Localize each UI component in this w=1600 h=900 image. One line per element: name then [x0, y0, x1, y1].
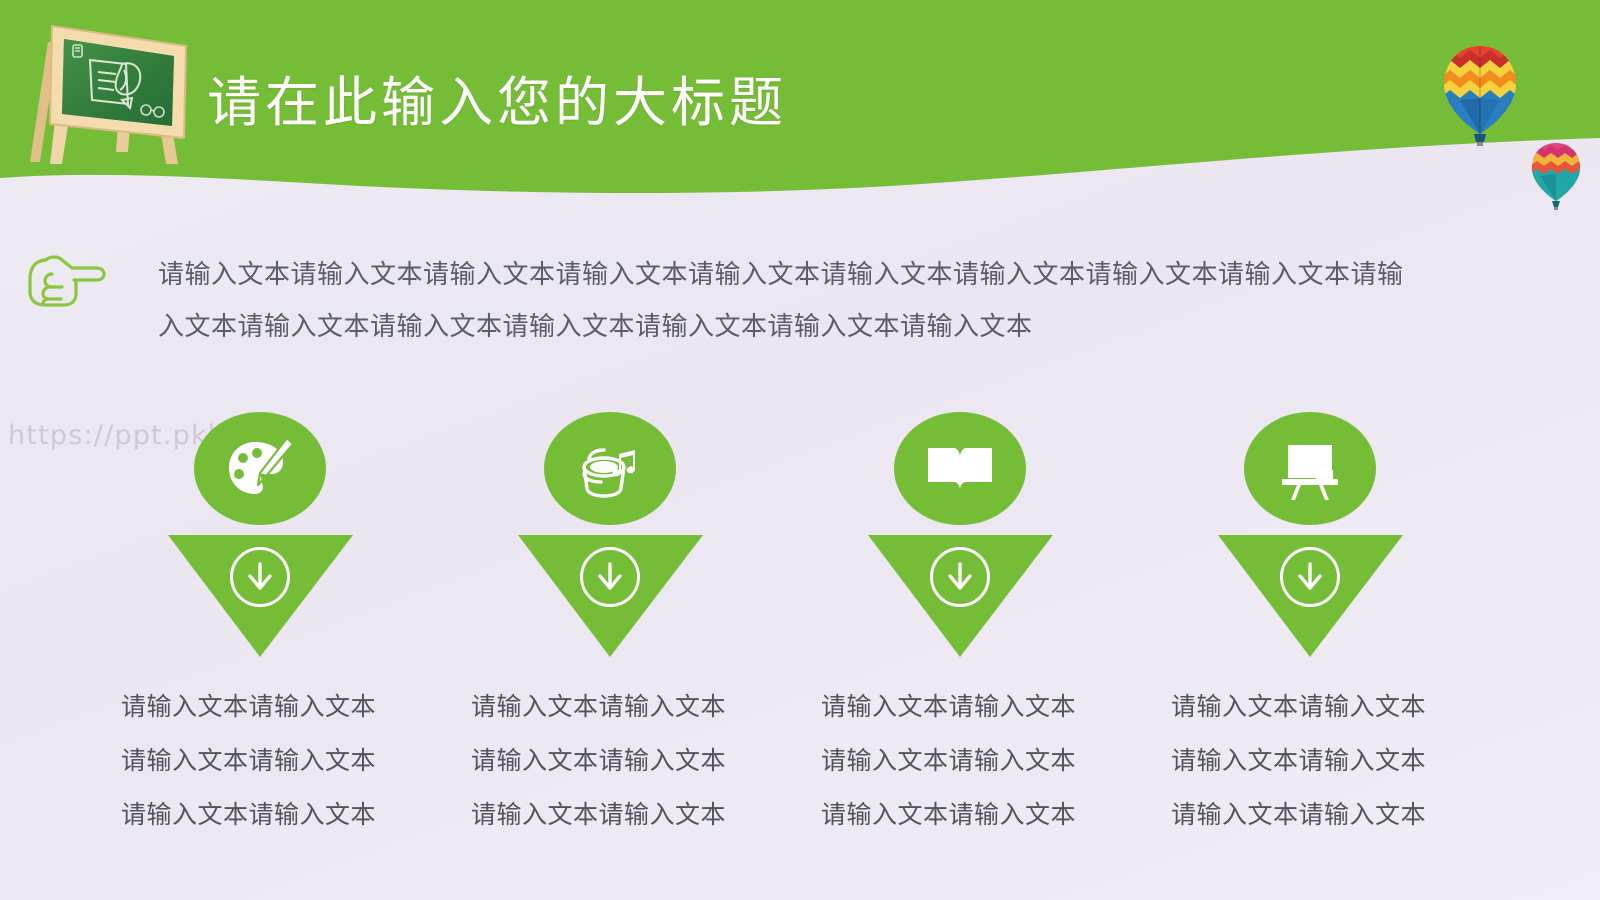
list-item: 请输入文本请输入文本	[471, 788, 771, 842]
list-item: 请输入文本请输入文本	[121, 734, 421, 788]
feature-column-4-text: 请输入文本请输入文本 请输入文本请输入文本 请输入文本请输入文本	[1171, 680, 1471, 842]
circled-down-arrow-icon	[930, 547, 990, 607]
whiteboard-easel-icon[interactable]	[1244, 412, 1376, 525]
list-item: 请输入文本请输入文本	[471, 734, 771, 788]
page-title: 请在此输入您的大标题	[207, 58, 787, 137]
chalkboard-easel-icon	[18, 12, 208, 167]
feature-columns: 请输入文本请输入文本 请输入文本请输入文本 请输入文本请输入文本	[85, 412, 1515, 842]
feature-column-2-text: 请输入文本请输入文本 请输入文本请输入文本 请输入文本请输入文本	[471, 680, 771, 842]
hot-air-balloon-icon	[1530, 140, 1582, 216]
feature-column-3-text: 请输入文本请输入文本 请输入文本请输入文本 请输入文本请输入文本	[821, 680, 1121, 842]
list-item: 请输入文本请输入文本	[1171, 680, 1471, 734]
feature-column-3[interactable]: 请输入文本请输入文本 请输入文本请输入文本 请输入文本请输入文本	[785, 412, 1135, 842]
list-item: 请输入文本请输入文本	[821, 680, 1121, 734]
list-item: 请输入文本请输入文本	[1171, 788, 1471, 842]
circled-down-arrow-icon	[230, 547, 290, 607]
drum-music-note-icon[interactable]	[544, 412, 676, 525]
circled-down-arrow-icon	[580, 547, 640, 607]
feature-column-1-text: 请输入文本请输入文本 请输入文本请输入文本 请输入文本请输入文本	[121, 680, 421, 842]
circled-down-arrow-icon	[1280, 547, 1340, 607]
paint-palette-brush-icon[interactable]	[194, 412, 326, 525]
feature-column-1[interactable]: 请输入文本请输入文本 请输入文本请输入文本 请输入文本请输入文本	[85, 412, 435, 842]
pointing-hand-icon	[18, 248, 106, 310]
list-item: 请输入文本请输入文本	[121, 788, 421, 842]
list-item: 请输入文本请输入文本	[821, 788, 1121, 842]
list-item: 请输入文本请输入文本	[821, 734, 1121, 788]
open-book-icon[interactable]	[894, 412, 1026, 525]
hot-air-balloon-icon	[1440, 42, 1520, 158]
down-arrow-triangle[interactable]	[868, 535, 1053, 640]
feature-column-4[interactable]: 请输入文本请输入文本 请输入文本请输入文本 请输入文本请输入文本	[1135, 412, 1485, 842]
down-arrow-triangle[interactable]	[518, 535, 703, 640]
intro-paragraph: 请输入文本请输入文本请输入文本请输入文本请输入文本请输入文本请输入文本请输入文本…	[158, 248, 1406, 352]
slide-canvas: 请在此输入您的大标题	[0, 0, 1600, 900]
list-item: 请输入文本请输入文本	[1171, 734, 1471, 788]
down-arrow-triangle[interactable]	[1218, 535, 1403, 640]
list-item: 请输入文本请输入文本	[121, 680, 421, 734]
feature-column-2[interactable]: 请输入文本请输入文本 请输入文本请输入文本 请输入文本请输入文本	[435, 412, 785, 842]
down-arrow-triangle[interactable]	[168, 535, 353, 640]
list-item: 请输入文本请输入文本	[471, 680, 771, 734]
